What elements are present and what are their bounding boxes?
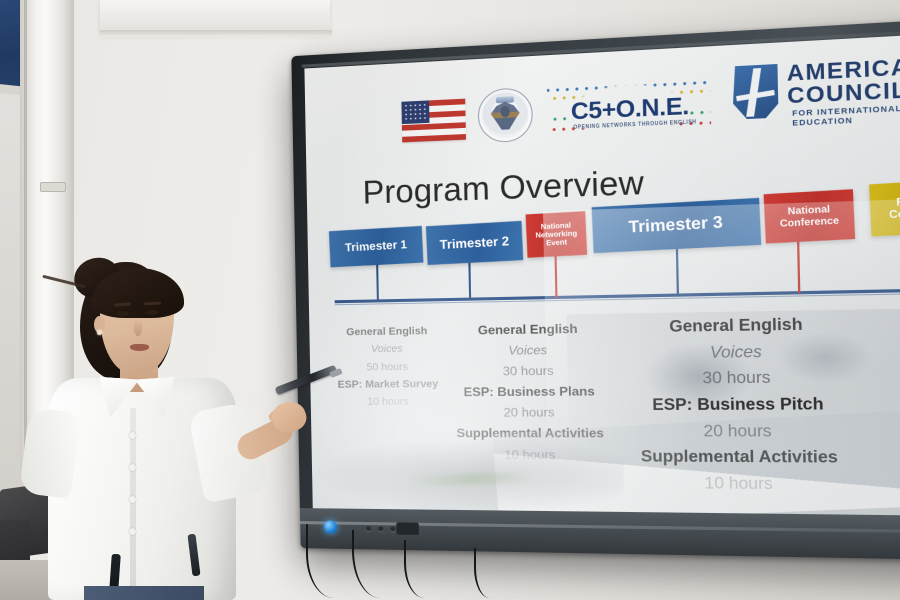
ir-receiver [396,522,419,535]
column-course-detail: Voices [324,340,452,359]
program-column-trimester-2: General English Voices 30 hours ESP: Bus… [449,318,610,465]
presenter-mouth [130,344,149,351]
timeline-stem [554,252,557,298]
column-esp: ESP: Business Pitch [607,392,873,419]
presentation-slide: C5+O.N.E. OPENING NETWORKS THROUGH ENGLI… [304,34,900,516]
slide-logo-bar: C5+O.N.E. OPENING NETWORKS THROUGH ENGLI… [304,34,900,165]
column-supplemental-hours: 10 hours [608,471,874,499]
program-column-trimester-1: General English Voices 50 hours ESP: Mar… [323,323,452,412]
display-bezel: C5+O.N.E. OPENING NETWORKS THROUGH ENGLI… [291,18,900,560]
presenter-earring [97,330,102,335]
timeline-stem [468,259,471,300]
column-supplemental-hours: 10 hours [451,444,610,465]
timeline-box-national-conference[interactable]: National Conference [764,189,856,243]
column-esp-hours: 10 hours [324,393,452,411]
column-supplemental: Supplemental Activities [451,423,610,444]
column-esp-hours: 20 hours [607,419,873,446]
us-flag-icon [401,99,466,143]
c5-one-logo: C5+O.N.E. OPENING NETWORKS THROUGH ENGLI… [547,72,712,149]
american-councils-mark-icon [732,64,778,120]
timeline-box-label: Trimester 2 [439,234,509,252]
timeline-box-trimester-3[interactable]: Trimester 3 [592,198,762,253]
blouse-button [129,528,136,535]
column-course-hours: 50 hours [324,358,452,377]
column-course-detail: Voices [606,338,872,367]
presenter-eye-right [146,310,159,315]
flag-canton [401,100,429,124]
presenter-trousers [84,586,204,600]
program-column-trimester-3: General English Voices 30 hours ESP: Bus… [605,311,874,498]
timeline-stem [376,263,379,302]
timeline-box-trimester-1[interactable]: Trimester 1 [329,226,424,268]
column-course-detail: Voices [449,339,608,362]
timeline-box-label: Trimester 1 [345,239,408,255]
screen-reflection-green [409,472,534,487]
timeline-box-national-networking-event[interactable]: National Networking Event [526,211,588,258]
classroom-scene: C5+O.N.E. OPENING NETWORKS THROUGH ENGLI… [0,0,900,600]
column-esp-hours: 20 hours [450,402,609,423]
stylus-pointer[interactable] [275,365,338,395]
pillar-clip [40,182,66,192]
timeline-box-label: Regional Conference [874,193,900,223]
ceiling-soffit [100,0,330,34]
display-screen[interactable]: C5+O.N.E. OPENING NETWORKS THROUGH ENGLI… [304,34,900,516]
timeline-box-label: Trimester 3 [628,214,723,238]
column-supplemental: Supplemental Activities [608,445,874,472]
seal-eagle [489,101,521,131]
blouse-button [129,464,136,471]
presenter [18,258,338,600]
column-course: General English [449,318,608,341]
presenter-nose [134,320,142,336]
timeline-box-label: National Conference [769,203,850,230]
ceiling-soffit-edge [100,30,332,37]
american-councils-logo: AMERICAN COUNCILS FOR INTERNATIONAL EDUC… [732,40,900,129]
interactive-display[interactable]: C5+O.N.E. OPENING NETWORKS THROUGH ENGLI… [291,18,900,560]
column-course-hours: 30 hours [606,365,872,393]
blouse-button [129,432,136,439]
blouse-button [129,496,136,503]
timeline-box-label: National Networking Event [529,221,583,249]
column-course: General English [323,323,451,342]
column-esp: ESP: Business Plans [450,381,609,403]
slide-title: Program Overview [362,164,644,212]
us-department-of-state-seal-icon [477,87,533,143]
column-course-hours: 30 hours [450,360,609,382]
column-esp: ESP: Market Survey [324,376,452,394]
timeline-box-regional-conference[interactable]: Regional Conference [869,178,900,236]
timeline-stem [797,242,800,294]
timeline-stem [676,247,679,296]
presenter-left-sleeve [19,407,81,499]
presenter-eye-left [116,311,129,316]
timeline-box-trimester-2[interactable]: Trimester 2 [426,221,523,265]
column-course: General English [605,311,870,341]
